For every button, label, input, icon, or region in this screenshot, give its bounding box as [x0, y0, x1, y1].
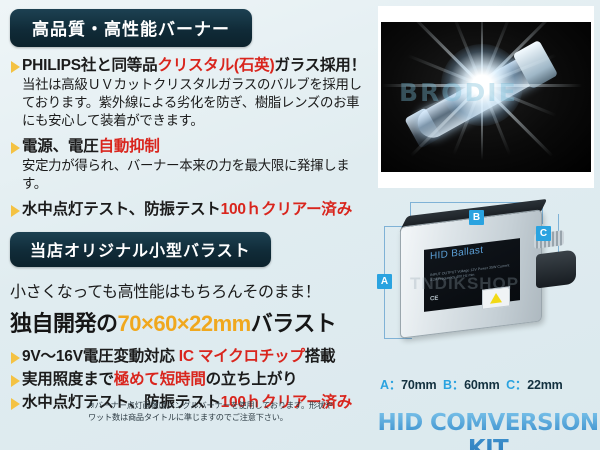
dimension-tick-a-bottom — [384, 338, 412, 339]
disclaimer-note: ※バーナー点灯画像はシングルバーナーを使用しております。形状やワット数は商品タイ… — [88, 400, 338, 425]
triangle-bullet-icon — [11, 142, 20, 154]
feature-title-plain-end: ガラス採用！ — [274, 57, 366, 74]
ballast-headline-plain-start: 独自開発の — [10, 311, 118, 336]
feature-title-highlight: 100ｈクリアー済み — [221, 201, 352, 218]
feature-title-highlight: 極めて短時間 — [114, 371, 206, 388]
ballast-bullet-ic-chip: 9V～16V電圧変動対応 IC マイクロチップ搭載 — [10, 349, 366, 365]
feature-body-auto-regulation: 安定力が得られ、バーナー本来の力を最大限に発揮します。 — [22, 157, 366, 193]
dimension-legend-b-value: 60mm — [464, 378, 499, 392]
feature-title: 電源、電圧自動抑制 — [22, 139, 160, 155]
feature-title-plain-start: 水中点灯テスト、防振テスト — [22, 201, 221, 218]
triangle-bullet-icon — [11, 375, 20, 387]
triangle-bullet-icon — [11, 61, 20, 73]
feature-title-highlight: 自動抑制 — [99, 138, 160, 155]
feature-body-philips-glass: 当社は高級ＵＶカットクリスタルガラスのバルブを採用しております。紫外線による劣化… — [22, 76, 366, 129]
feature-title-plain-start: 電源、電圧 — [22, 138, 99, 155]
feature-title: 9V～16V電圧変動対応 IC マイクロチップ搭載 — [22, 349, 335, 365]
ballast-headline-plain-end: バラスト — [251, 311, 337, 336]
left-content-column: 高品質・高性能バーナー PHILIPS社と同等品クリスタル(石英)ガラス採用！ … — [0, 0, 372, 450]
burner-photo-inner: BRODIE — [381, 22, 591, 172]
burner-photo: BRODIE — [378, 6, 594, 188]
dimension-legend-b-key: B： — [443, 378, 464, 392]
ballast-size-headline: 独自開発の70×60×22mmバラスト — [10, 306, 366, 338]
kit-title: HID COMVERSION KIT — [376, 410, 600, 450]
feature-title-plain-start: 9V～16V電圧変動対応 — [22, 348, 179, 365]
feature-title-plain-start: 実用照度まで — [22, 371, 114, 388]
dimension-legend-c-value: 22mm — [527, 378, 562, 392]
feature-title-plain-start: PHILIPS社と同等品 — [22, 57, 157, 74]
triangle-bullet-icon — [11, 352, 20, 364]
feature-title-highlight: IC マイクロチップ — [179, 348, 305, 365]
kit-title-hid: HID — [378, 410, 423, 436]
dimension-marker-c: C — [536, 226, 551, 241]
ballast-lead-text: 小さくなっても高性能はもちろんそのまま！ — [10, 278, 366, 302]
triangle-bullet-icon — [11, 398, 20, 410]
ballast-watermark: TNDIKSHOP — [410, 274, 519, 294]
advertisement-page: 高品質・高性能バーナー PHILIPS社と同等品クリスタル(石英)ガラス採用！ … — [0, 0, 600, 450]
dimension-marker-a: A — [377, 274, 392, 289]
ce-mark-icon: CE — [430, 295, 438, 302]
triangle-bullet-icon — [11, 205, 20, 217]
feature-title: 実用照度まで極めて短時間の立ち上がり — [22, 372, 297, 388]
feature-bullet-water-vibration-test: 水中点灯テスト、防振テスト100ｈクリアー済み — [10, 202, 366, 218]
feature-title-plain-end: の立ち上がり — [206, 371, 298, 388]
section-badge-burner: 高品質・高性能バーナー — [10, 9, 252, 47]
kit-title-conversion: COMVERSION KIT — [430, 410, 598, 450]
feature-title-plain-end: 搭載 — [305, 348, 336, 365]
feature-title-highlight: クリスタル(石英) — [157, 57, 274, 74]
ballast-diagram: HID Ballast INPUT OUTPUT Voltage 12V Pow… — [372, 196, 600, 376]
dimension-legend: A：70mm B：60mm C：22mm — [380, 374, 563, 393]
ballast-bullet-fast-startup: 実用照度まで極めて短時間の立ち上がり — [10, 372, 366, 388]
ballast-connector — [536, 250, 576, 289]
dimension-legend-a-value: 70mm — [401, 378, 436, 392]
dimension-marker-b: B — [469, 210, 484, 225]
section-badge-ballast: 当店オリジナル小型バラスト — [10, 232, 271, 267]
feature-bullet-auto-regulation: 電源、電圧自動抑制 — [10, 139, 366, 155]
dimension-legend-c-key: C： — [506, 378, 527, 392]
dimension-legend-a-key: A： — [380, 378, 401, 392]
feature-title: 水中点灯テスト、防振テスト100ｈクリアー済み — [22, 202, 352, 218]
ballast-headline-size: 70×60×22mm — [118, 311, 251, 336]
right-media-column: BRODIE HID Ballast INPUT OUTPUT Voltage … — [372, 0, 600, 450]
feature-title: PHILIPS社と同等品クリスタル(石英)ガラス採用！ — [22, 58, 366, 74]
feature-bullet-philips-glass: PHILIPS社と同等品クリスタル(石英)ガラス採用！ — [10, 58, 366, 74]
photo-watermark: BRODIE — [399, 78, 518, 107]
